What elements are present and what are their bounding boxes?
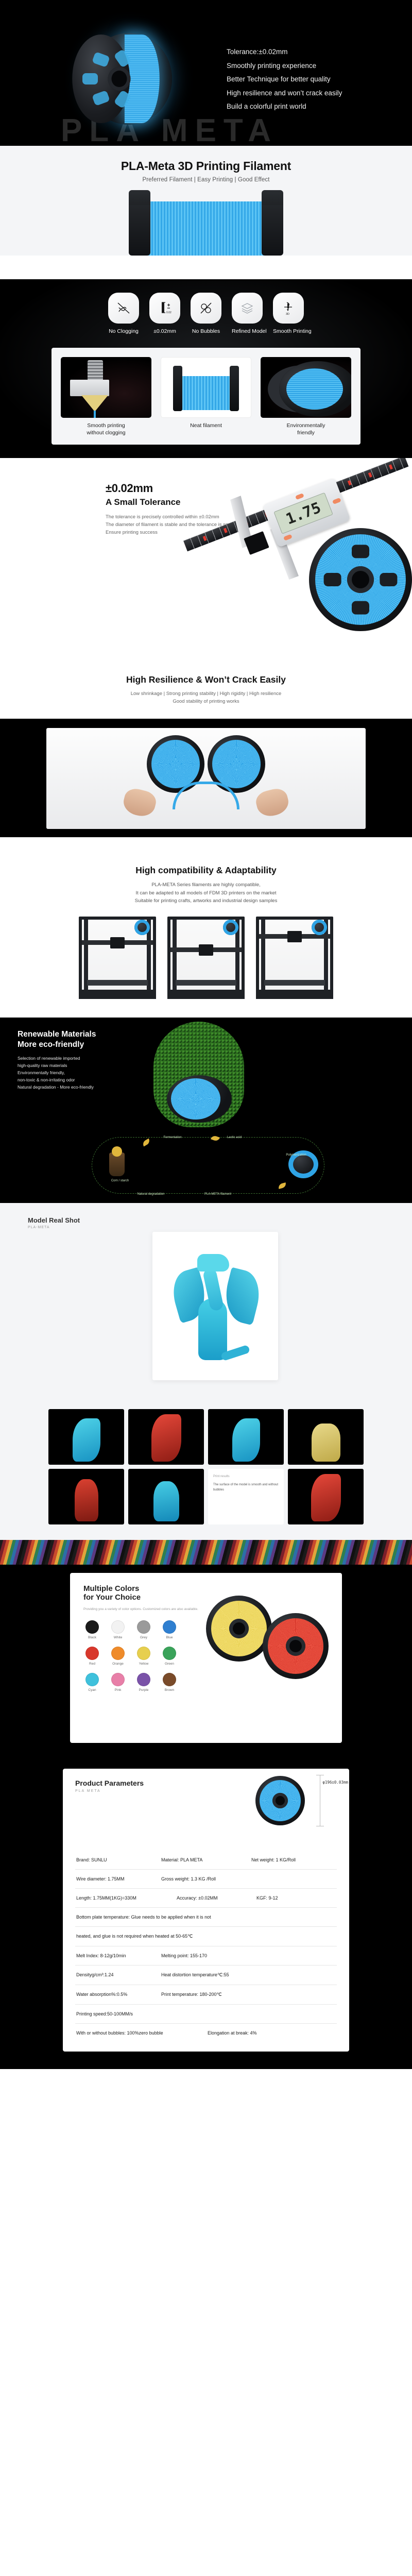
gallery-item[interactable] <box>208 1409 284 1465</box>
printer-image <box>167 917 245 999</box>
colors-card: Multiple Colors for Your Choice Providin… <box>70 1573 342 1743</box>
gallery-item[interactable] <box>288 1469 364 1524</box>
cycle-label: Polymerization <box>278 1154 314 1157</box>
hotend-nozzle-photo <box>61 357 151 418</box>
printer-image <box>256 917 333 999</box>
feature-icon-row: No Clogging 0.02 ±0.02mm <box>0 293 412 334</box>
resilience-photo-section <box>0 719 412 837</box>
color-swatch[interactable]: Purple <box>135 1673 152 1692</box>
gallery-item[interactable] <box>48 1409 124 1465</box>
color-swatch[interactable]: Green <box>161 1647 178 1666</box>
color-swatch[interactable]: Red <box>83 1647 101 1666</box>
model-gallery-grid: Print results The surface of the model i… <box>48 1409 364 1524</box>
dragon-model-photo <box>152 1232 278 1380</box>
table-row: Water absorption%:0.5% Print temperature… <box>75 1985 337 2004</box>
gallery-item[interactable] <box>288 1409 364 1465</box>
benefit-card[interactable]: Environmentally friendly <box>261 357 351 436</box>
title-banner-section: PLA-Meta 3D Printing Filament Preferred … <box>0 146 412 205</box>
title-spool-image <box>0 190 412 205</box>
cycle-label: Lactic acid <box>216 1136 252 1139</box>
model-gallery-section: Print results The surface of the model i… <box>0 1409 412 1540</box>
table-row: Bottom plate temperature: Glue needs to … <box>75 1907 337 1926</box>
svg-text:3D: 3D <box>286 313 289 316</box>
compatibility-section: High compatibility & Adaptability PLA-ME… <box>0 850 412 1018</box>
feature-icons-section: No Clogging 0.02 ±0.02mm <box>0 279 412 458</box>
swatch-dot <box>85 1647 99 1660</box>
resilience-section: High Resilience & Won’t Crack Easily Low… <box>0 664 412 719</box>
product-parameters-section: Product Parameters PLA META φ196±0.03mm … <box>0 1756 412 2069</box>
resilience-heading-highlight: High Resilience <box>126 674 193 685</box>
model-shot-subheading: PLA-META <box>0 1226 412 1229</box>
color-swatch[interactable]: Brown <box>161 1673 178 1692</box>
caliper-spool-image: 1.75 <box>149 479 412 638</box>
feature-no-bubbles[interactable]: No Bubbles <box>191 293 221 334</box>
compatibility-body: PLA-META Series filaments are highly com… <box>0 881 412 905</box>
dimension-line <box>320 1775 320 1826</box>
white-gap <box>0 256 412 279</box>
colors-section: Multiple Colors for Your Choice Providin… <box>0 1565 412 1756</box>
table-row: Melt Index: 8-12g/10min Melting point: 1… <box>75 1946 337 1965</box>
color-spools-image <box>200 1596 329 1688</box>
svg-text:0.02: 0.02 <box>166 311 171 314</box>
gallery-item[interactable] <box>128 1469 204 1524</box>
feature-tolerance[interactable]: 0.02 ±0.02mm <box>149 293 180 334</box>
gallery-note: Print results The surface of the model i… <box>208 1469 284 1524</box>
grass-spool-image <box>153 1022 244 1127</box>
cycle-label: PLA-META filament <box>200 1193 236 1196</box>
gallery-note-title: Print results <box>213 1474 279 1479</box>
compatibility-heading: High compatibility & Adaptability <box>0 865 412 876</box>
benefit-card-caption: Neat filament <box>161 422 251 430</box>
gallery-item[interactable] <box>48 1469 124 1524</box>
lifecycle-diagram: Corn / starch Fermentation Lactic acid P… <box>0 1135 412 1201</box>
corn-icon <box>109 1153 125 1176</box>
feature-no-clogging[interactable]: No Clogging <box>108 293 139 334</box>
hero-spec-item: Build a colorful print world <box>227 100 342 114</box>
gallery-item[interactable] <box>128 1409 204 1465</box>
hero-spec-item: Tolerance:±0.02mm <box>227 45 342 59</box>
swatch-dot <box>137 1620 150 1634</box>
page-subtitle: Preferred Filament | Easy Printing | Goo… <box>0 177 412 183</box>
hero-spool-image <box>62 30 196 128</box>
swatch-dot <box>163 1673 176 1686</box>
compatibility-heading-highlight: High compatibility <box>135 865 214 876</box>
color-swatch[interactable]: Pink <box>109 1673 127 1692</box>
swatch-dot <box>111 1647 125 1660</box>
color-swatch[interactable]: Blue <box>161 1620 178 1639</box>
color-swatch[interactable]: Orange <box>109 1647 127 1666</box>
blue-spool-front-photo <box>161 357 251 418</box>
resilience-subtext: Low shrinkage | Strong printing stabilit… <box>0 690 412 705</box>
model-real-shot-section: Model Real Shot PLA-META <box>0 1203 412 1409</box>
hero-spec-item: Smoothly printing experience <box>227 59 342 73</box>
resilience-heading: High Resilience & Won’t Crack Easily <box>0 674 412 685</box>
color-swatch[interactable]: White <box>109 1620 127 1639</box>
feature-refined-model[interactable]: Refined Model <box>232 293 263 334</box>
caliper-tolerance-icon: 0.02 <box>149 293 180 324</box>
page-title-highlight: PLA-Meta <box>121 159 175 173</box>
hero-spec-list: Tolerance:±0.02mm Smoothly printing expe… <box>227 45 342 114</box>
color-swatch[interactable]: Cyan <box>83 1673 101 1692</box>
cycle-label: Natural degradation <box>133 1193 169 1196</box>
table-row: Length: 1.75MM(1KG)=330M Accuracy: ±0.02… <box>75 1888 337 1907</box>
nozzle-3d-icon: 3D <box>273 293 304 324</box>
table-row: With or without bubbles: 100%zero bubble… <box>75 2023 337 2042</box>
printer-gallery <box>0 917 412 1012</box>
swatch-dot <box>137 1673 150 1686</box>
hero-spec-item: Better Technique for better quality <box>227 73 342 87</box>
renewable-materials-section: Renewable Materials More eco-friendly Se… <box>0 1018 412 1203</box>
table-row: heated, and glue is not required when he… <box>75 1926 337 1946</box>
table-row: Printing speed:50-100MM/s <box>75 2004 337 2023</box>
color-strip-divider <box>0 1540 412 1565</box>
colors-heading-line1: Multiple Colors <box>83 1584 329 1593</box>
feature-label: ±0.02mm <box>149 328 180 334</box>
printer-image <box>79 917 156 999</box>
benefit-card-caption: Environmentally friendly <box>261 422 351 436</box>
table-row: Densityg/cm³:1.24 Heat distortion temper… <box>75 1965 337 1985</box>
swatch-dot <box>85 1620 99 1634</box>
swatch-dot <box>163 1620 176 1634</box>
bubbles-crossed-icon <box>191 293 221 324</box>
swatch-dot <box>163 1647 176 1660</box>
tangled-filament-crossed-icon <box>108 293 139 324</box>
swatch-dot <box>85 1673 99 1686</box>
swatch-dot <box>137 1647 150 1660</box>
dimension-label: φ196±0.03mm <box>322 1780 348 1785</box>
feature-smooth-printing[interactable]: 3D Smooth Printing <box>273 293 304 334</box>
title-spool-continuation <box>0 205 412 256</box>
tolerance-section: ±0.02mm A Small Tolerance The tolerance … <box>0 458 412 664</box>
model-shot-heading: Model Real Shot <box>0 1216 412 1224</box>
parameters-card: Product Parameters PLA META φ196±0.03mm … <box>63 1769 349 2052</box>
benefit-card[interactable]: Neat filament <box>161 357 251 436</box>
feature-label: Refined Model <box>232 328 263 334</box>
hero-section: PLA META Tolerance:±0.02mm Smoothly prin… <box>0 0 412 146</box>
benefit-cards-panel: Smooth printing without clogging Neat fi… <box>51 348 360 445</box>
color-swatch[interactable]: Grey <box>135 1620 152 1639</box>
gallery-note-body: The surface of the model is smooth and w… <box>213 1482 279 1493</box>
color-swatch[interactable]: Black <box>83 1620 101 1639</box>
blue-spools-angled-photo <box>261 357 351 418</box>
swatch-dot <box>111 1620 125 1634</box>
swatch-dot <box>111 1673 125 1686</box>
white-gap <box>0 837 412 850</box>
page-title: PLA-Meta 3D Printing Filament <box>0 159 412 173</box>
benefit-card[interactable]: Smooth printing without clogging <box>61 357 151 436</box>
feature-label: No Clogging <box>108 328 139 334</box>
cycle-label: Corn / starch <box>102 1179 138 1182</box>
hero-spec-item: High resilience and won’t crack easily <box>227 87 342 100</box>
parameters-table: Brand: SUNLU Material: PLA META Net weig… <box>75 1851 337 2042</box>
table-row: Brand: SUNLU Material: PLA META Net weig… <box>75 1851 337 1869</box>
parameters-spool-image <box>255 1776 305 1825</box>
color-swatch[interactable]: Yellow <box>135 1647 152 1666</box>
product-detail-page: PLA META Tolerance:±0.02mm Smoothly prin… <box>0 0 412 2069</box>
benefit-card-caption: Smooth printing without clogging <box>61 422 151 436</box>
cycle-label: Fermentation <box>154 1136 191 1139</box>
layers-stack-icon <box>232 293 263 324</box>
bending-filament-photo <box>46 728 366 829</box>
feature-label: No Bubbles <box>191 328 221 334</box>
feature-label: Smooth Printing <box>273 328 304 334</box>
table-row: Wire diameter: 1.75MM Gross weight: 1.3 … <box>75 1869 337 1888</box>
page-title-rest: 3D Printing Filament <box>175 159 291 173</box>
